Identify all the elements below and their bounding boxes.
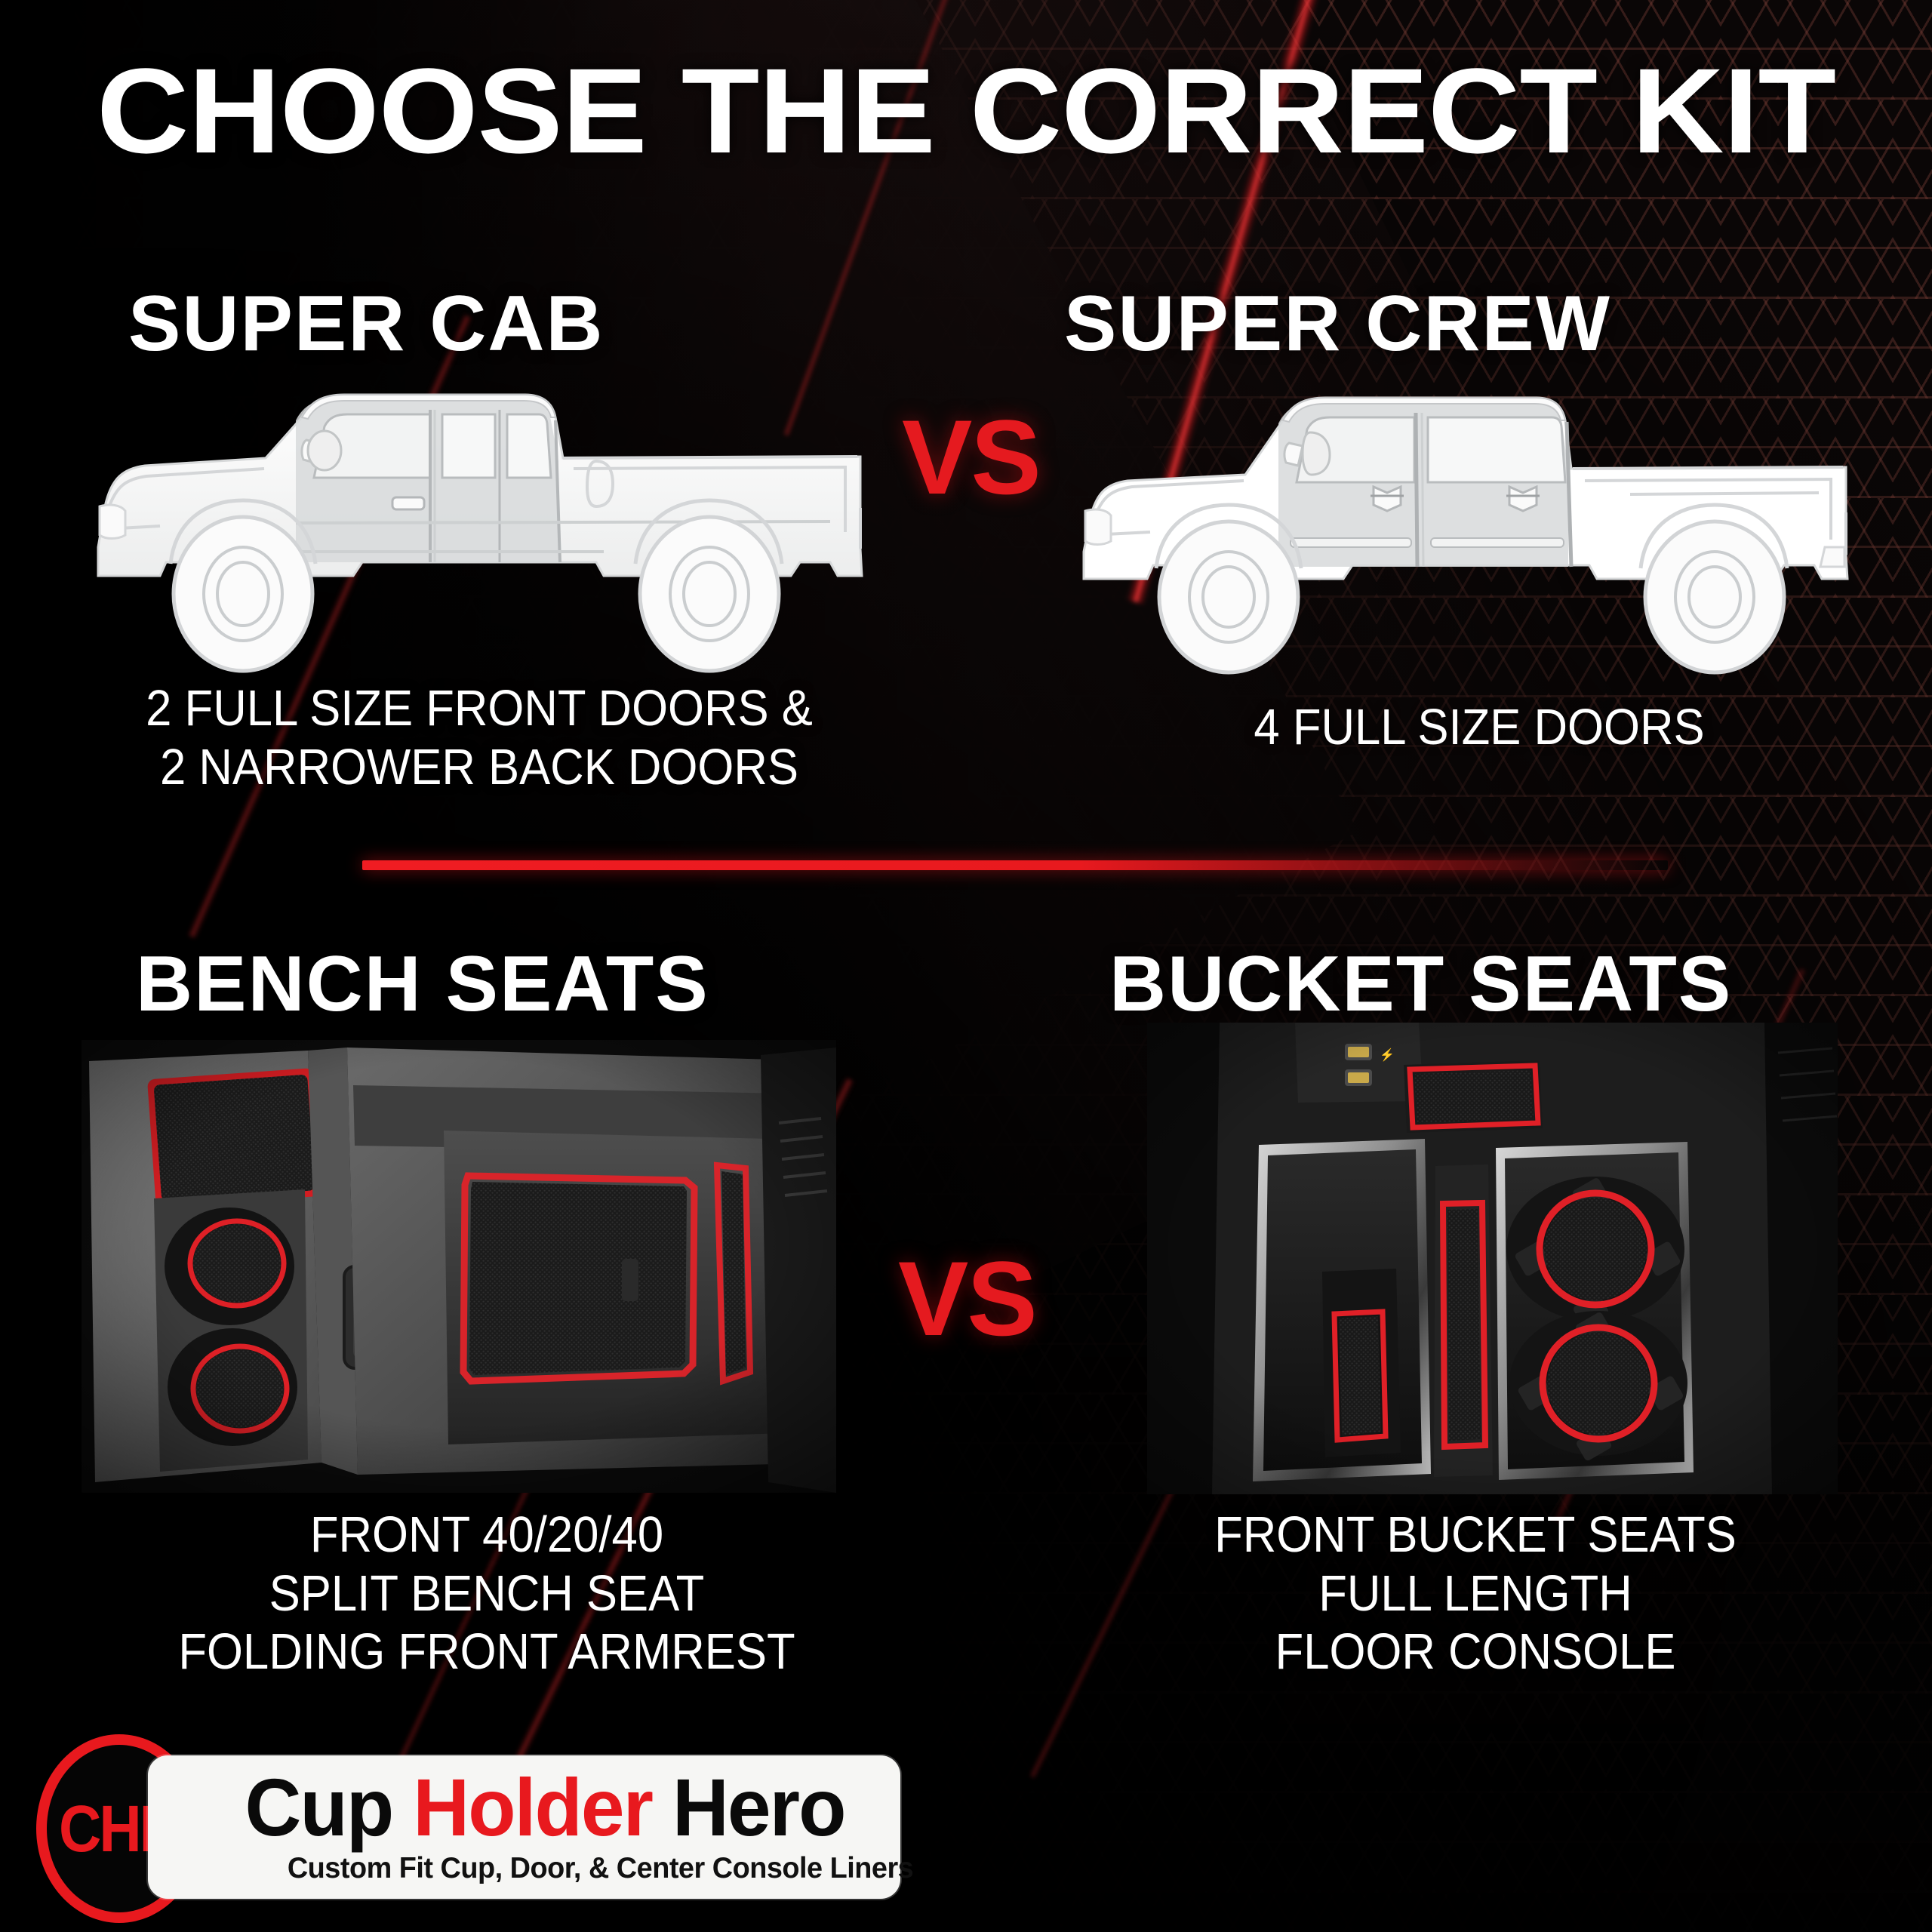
super-crew-truck-illustration (1057, 374, 1902, 675)
vs-label-top: VS (902, 396, 1040, 518)
brand-nameplate: Cup Holder Hero Custom Fit Cup, Door, & … (148, 1755, 900, 1899)
caption-super-crew: 4 FULL SIZE DOORS (1104, 698, 1854, 757)
section-heading-super-crew: SUPER CREW (1064, 279, 1611, 369)
caption-bucket-seats: FRONT BUCKET SEATS FULL LENGTH FLOOR CON… (1090, 1506, 1860, 1681)
super-cab-truck-illustration (75, 374, 921, 675)
brand-logo: CHH Cup Holder Hero Custom Fit Cup, Door… (36, 1734, 900, 1923)
brand-word-holder: Holder (413, 1761, 672, 1853)
bucket-seat-console-photo: ⚡ (1147, 1023, 1838, 1494)
bench-seat-console-photo (82, 1040, 836, 1493)
page-title: CHOOSE THE CORRECT KIT (0, 42, 1932, 180)
caption-bench-seats: FRONT 40/20/40 SPLIT BENCH SEAT FOLDING … (109, 1506, 866, 1681)
vs-label-bottom: VS (898, 1238, 1036, 1360)
svg-text:⚡: ⚡ (1380, 1048, 1395, 1062)
section-heading-super-cab: SUPER CAB (128, 279, 605, 369)
brand-tagline: Custom Fit Cup, Door, & Center Console L… (288, 1852, 913, 1885)
brand-wordmark: Cup Holder Hero (245, 1760, 845, 1854)
brand-word-cup: Cup (245, 1761, 414, 1853)
section-heading-bucket-seats: BUCKET SEATS (1109, 940, 1732, 1029)
brand-word-hero: Hero (672, 1761, 845, 1853)
infographic-canvas: CHOOSE THE CORRECT KIT SUPER CAB SUPER C… (0, 0, 1932, 1932)
section-divider (362, 860, 1668, 870)
caption-super-cab: 2 FULL SIZE FRONT DOORS & 2 NARROWER BAC… (87, 679, 872, 796)
section-heading-bench-seats: BENCH SEATS (136, 940, 709, 1029)
